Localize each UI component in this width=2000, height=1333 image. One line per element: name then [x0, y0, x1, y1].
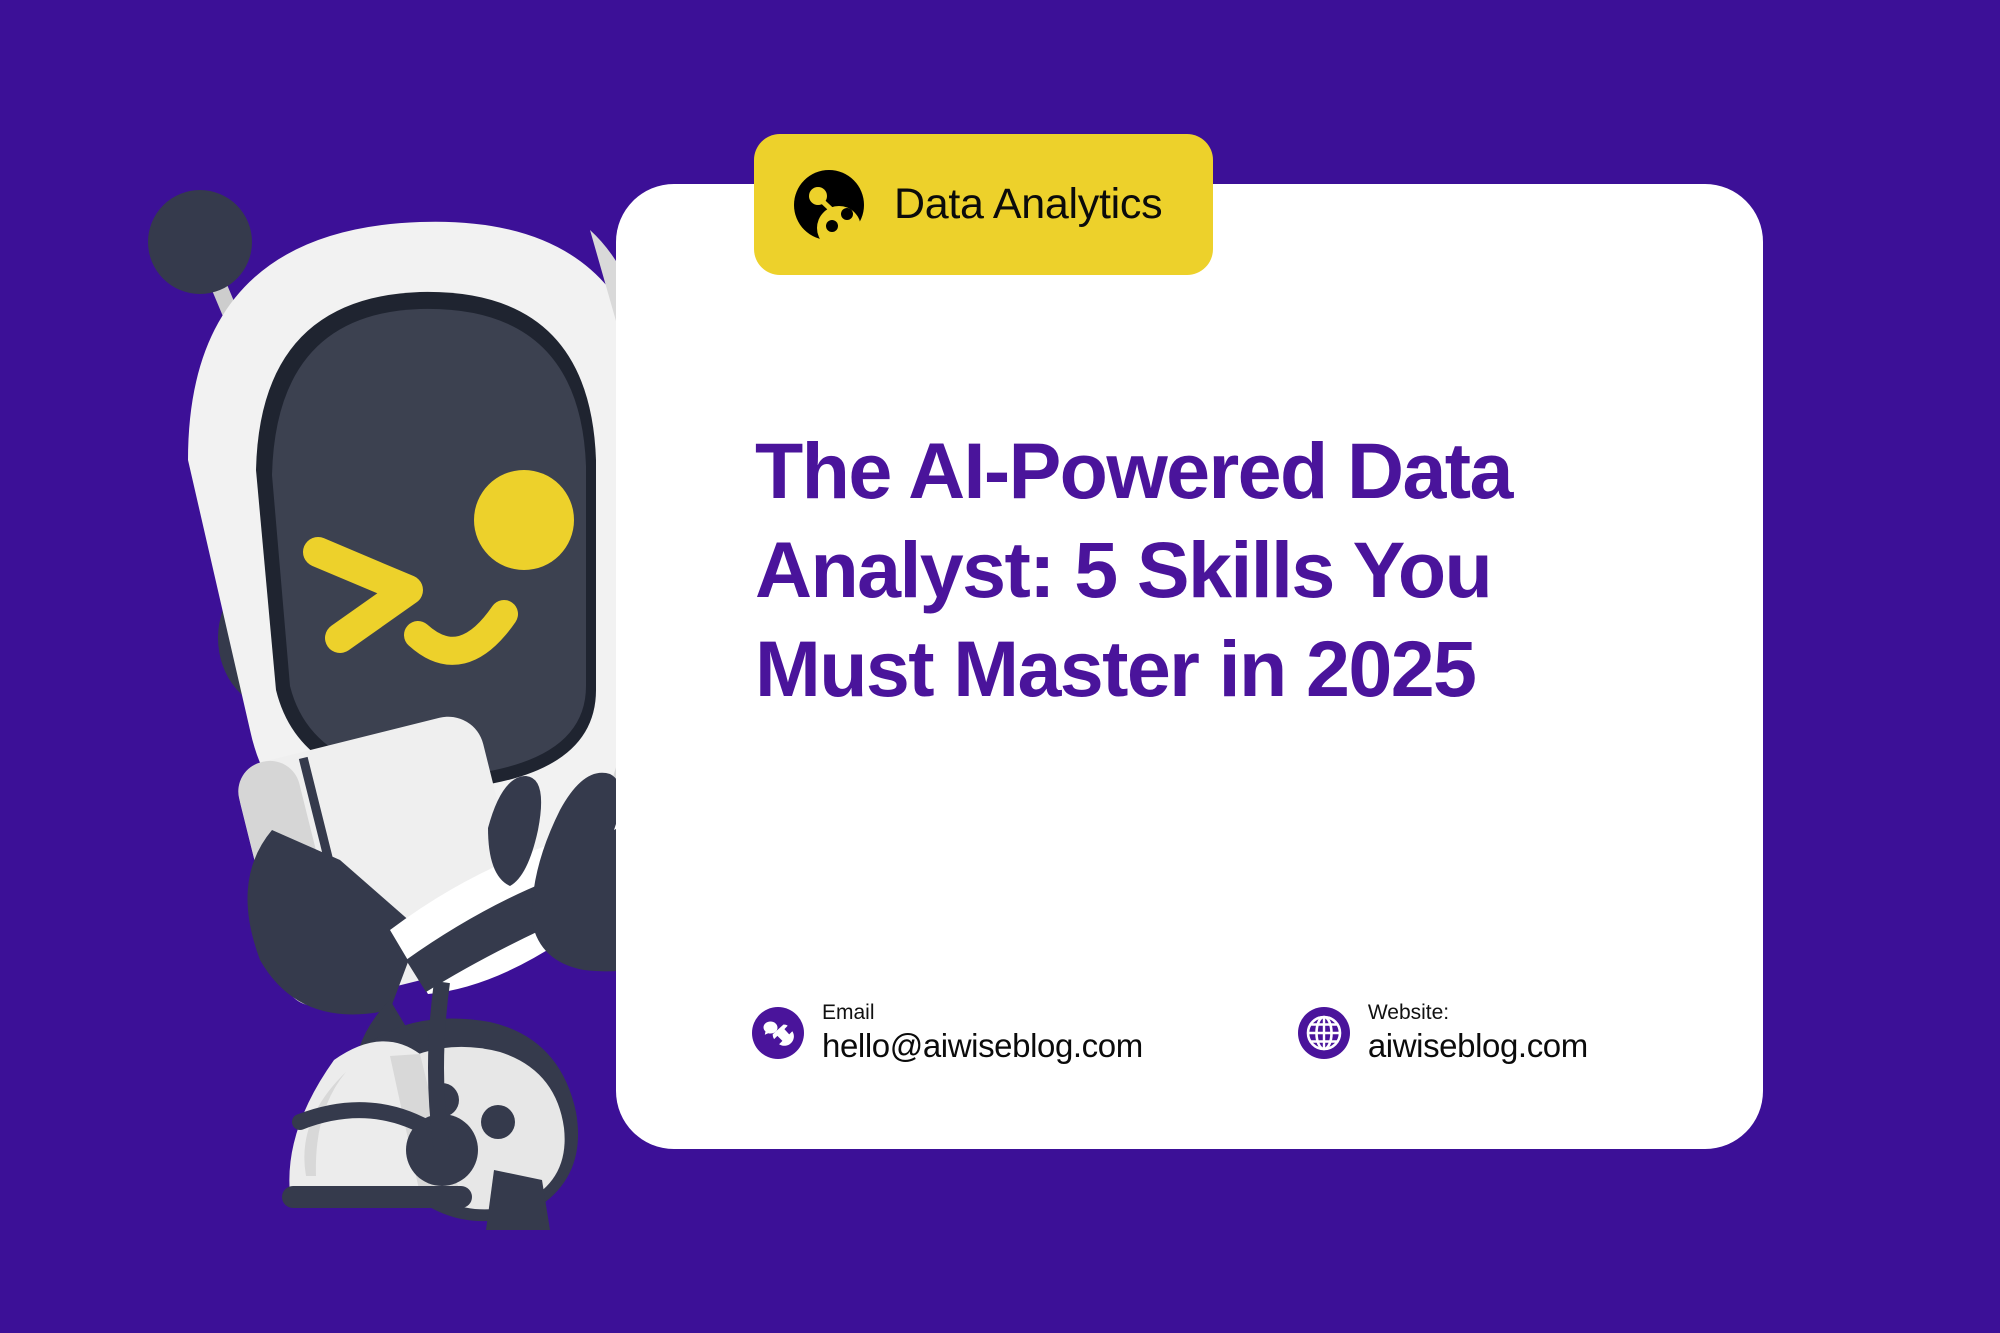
antenna-ball-icon: [148, 190, 252, 294]
leg-rod: [436, 982, 442, 1150]
poster-canvas: The AI-Powered Data Analyst: 5 Skills Yo…: [0, 0, 2000, 1333]
contact-item-email[interactable]: Email hello@aiwiseblog.com: [752, 1000, 1143, 1065]
contact-text-website: Website: aiwiseblog.com: [1368, 1000, 1588, 1065]
badge-label: Data Analytics: [894, 180, 1162, 229]
contact-text-email: Email hello@aiwiseblog.com: [822, 1000, 1143, 1065]
contact-value-website: aiwiseblog.com: [1368, 1027, 1588, 1065]
contact-row: Email hello@aiwiseblog.com Website:: [752, 1000, 1588, 1065]
contact-label: Email: [822, 1000, 1143, 1025]
data-network-logo-icon: [790, 166, 868, 244]
contact-value-email: hello@aiwiseblog.com: [822, 1027, 1143, 1065]
hip-dot: [481, 1105, 515, 1139]
page-title: The AI-Powered Data Analyst: 5 Skills Yo…: [755, 422, 1515, 718]
globe-icon: [1298, 1007, 1350, 1059]
category-badge[interactable]: Data Analytics: [754, 134, 1213, 275]
contact-item-website[interactable]: Website: aiwiseblog.com: [1298, 1000, 1588, 1065]
phone-message-icon: [752, 1007, 804, 1059]
boot-sole: [282, 1186, 472, 1208]
eye-icon: [474, 470, 574, 570]
contact-label: Website:: [1368, 1000, 1588, 1025]
content-card: The AI-Powered Data Analyst: 5 Skills Yo…: [616, 184, 1763, 1149]
